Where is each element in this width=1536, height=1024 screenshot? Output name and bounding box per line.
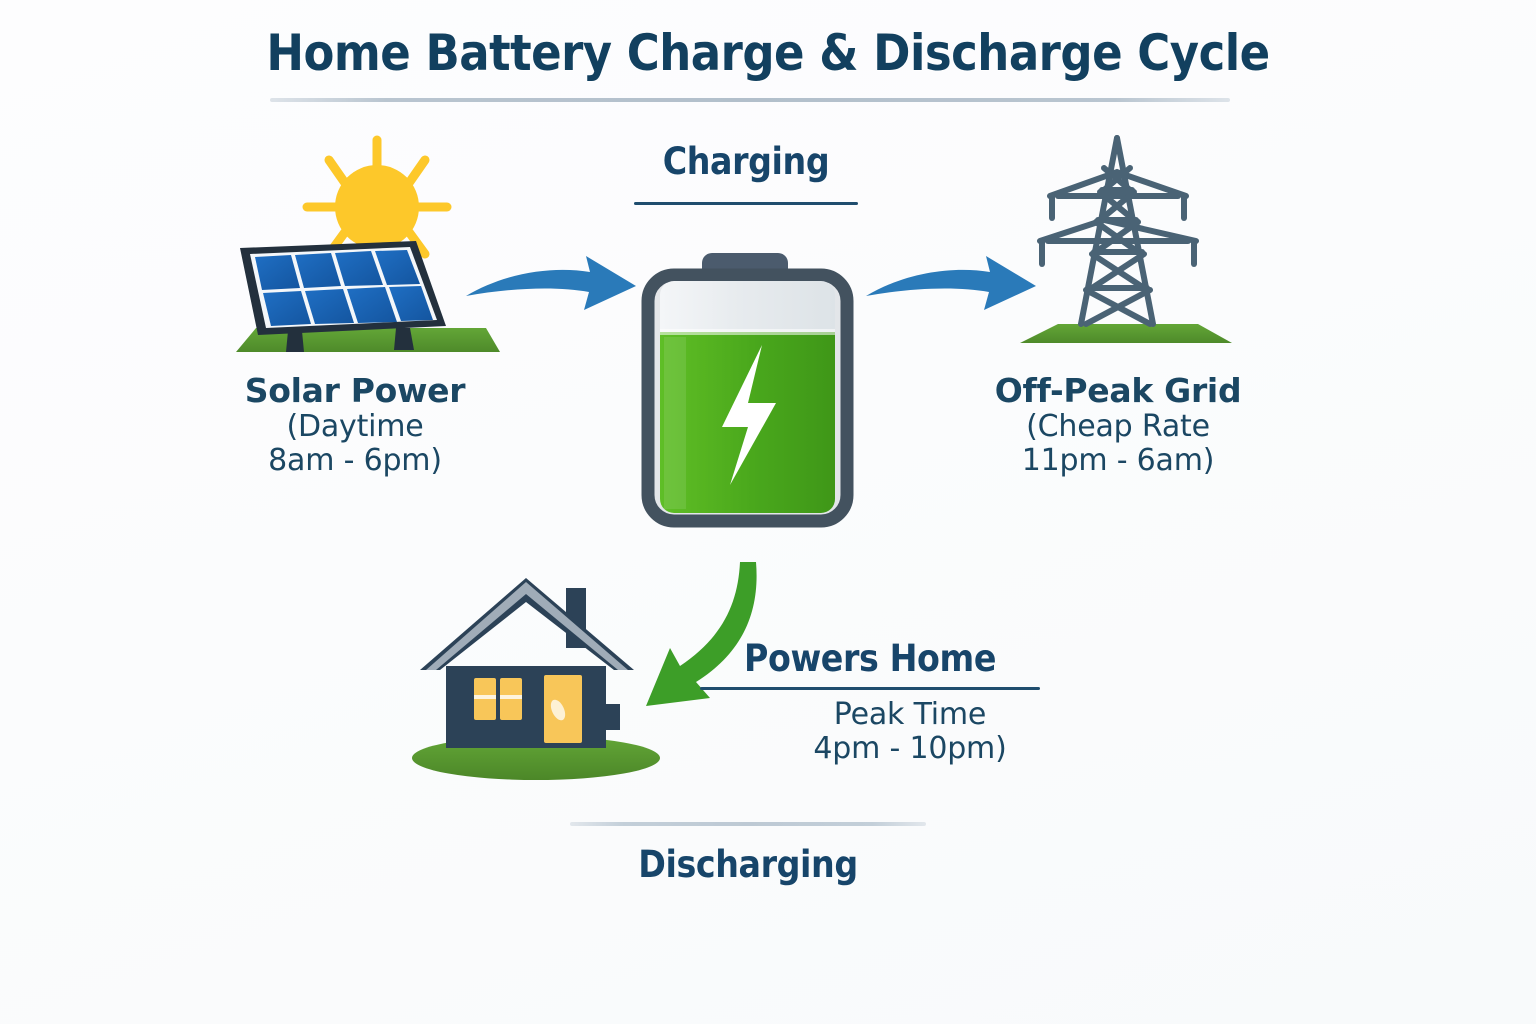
solar-to-battery-arrow (458, 248, 648, 328)
charging-underline (634, 202, 858, 205)
powers-home-underline (700, 687, 1040, 690)
grid-sub-line2: 11pm - 6am) (978, 444, 1258, 478)
solar-caption: Solar Power (Daytime 8am - 6pm) (215, 372, 495, 478)
page-title: Home Battery Charge & Discharge Cycle (0, 24, 1536, 82)
infographic-canvas: Home Battery Charge & Discharge Cycle Ch… (0, 0, 1536, 1024)
sun-disc (335, 165, 419, 249)
discharging-label: Discharging (560, 843, 936, 886)
solar-sub-line2: 8am - 6pm) (215, 444, 495, 478)
house-icon (408, 558, 668, 790)
grid-caption: Off-Peak Grid (Cheap Rate 11pm - 6am) (978, 372, 1258, 478)
home-caption: Peak Time 4pm - 10pm) (740, 698, 1080, 766)
title-divider (270, 98, 1230, 102)
charging-label: Charging (560, 140, 932, 183)
battery-charging-icon (630, 245, 865, 555)
home-sub-line2: 4pm - 10pm) (740, 732, 1080, 766)
transmission-tower-icon (1018, 128, 1238, 360)
grid-sub-line1: (Cheap Rate (978, 410, 1258, 444)
discharging-divider (570, 822, 926, 826)
powers-home-label: Powers Home (700, 637, 1040, 680)
solar-heading: Solar Power (215, 372, 495, 410)
grid-heading: Off-Peak Grid (978, 372, 1258, 410)
solar-sub-line1: (Daytime (215, 410, 495, 444)
home-sub-line1: Peak Time (740, 698, 1080, 732)
